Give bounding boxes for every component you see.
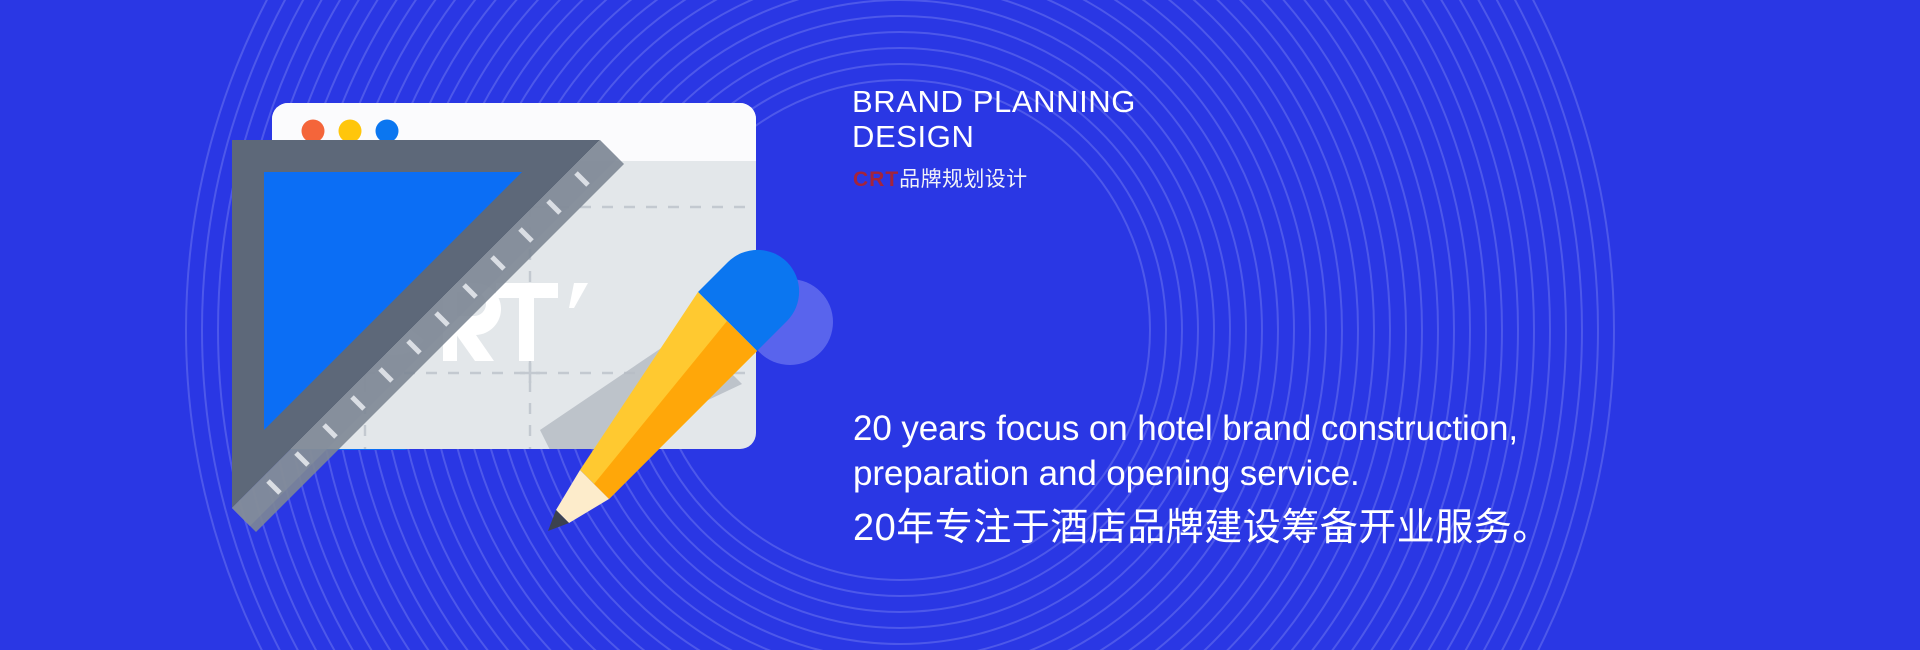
brand-subtitle-cn: 品牌规划设计 xyxy=(899,168,1027,191)
tagline-chinese: 20年专注于酒店品牌建设筹备开业服务。 xyxy=(853,505,1551,551)
close-dot xyxy=(302,120,325,143)
window-control-dots xyxy=(302,120,399,143)
copy-block: BRAND PLANNING DESIGN CRT品牌规划设计 20 years… xyxy=(852,0,1872,650)
page-title: BRAND PLANNING DESIGN xyxy=(852,84,1136,154)
brand-banner: BRAND PLANNING DESIGN CRT品牌规划设计 20 years… xyxy=(0,0,1920,650)
brand-illustration xyxy=(0,0,900,650)
brand-subtitle: CRT品牌规划设计 xyxy=(853,168,1028,192)
brand-mark-text: CRT xyxy=(853,168,899,191)
maximize-dot xyxy=(376,120,399,143)
tagline-english: 20 years focus on hotel brand constructi… xyxy=(853,406,1793,496)
minimize-dot xyxy=(339,120,362,143)
